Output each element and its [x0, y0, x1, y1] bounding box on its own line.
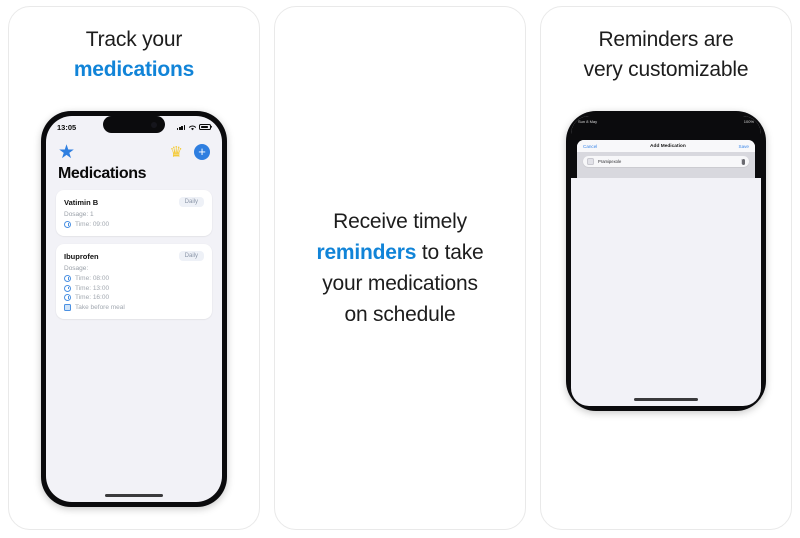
panel-track-medications: Track your medications 13:05 — [8, 6, 260, 530]
add-medication-button[interactable]: + — [194, 144, 210, 160]
status-bar-battery-label: 100% — [744, 119, 754, 124]
predictive-text-bar[interactable]: Pramipexole — [583, 156, 749, 167]
save-button[interactable]: Save — [739, 144, 749, 149]
wifi-icon — [188, 124, 197, 131]
microphone-icon[interactable] — [742, 159, 745, 165]
sheet-title: Add Medication — [650, 144, 686, 149]
headline-line-1: Track your — [19, 25, 249, 55]
phone-mockup-one: 13:05 ★ ♛ — [41, 111, 227, 507]
copy-line-3: your medications — [322, 272, 478, 295]
medication-time-row: Time: 16:00 — [64, 294, 204, 301]
clock-icon — [64, 285, 71, 292]
status-bar: Sun 8 May 100% — [571, 116, 761, 126]
phone-mockup-three: Sun 8 May 100% Cancel Add Medication Sav… — [566, 111, 766, 411]
medication-time-row: Time: 09:00 — [64, 221, 204, 228]
note-icon — [64, 304, 71, 311]
panel-two-copy-wrap: Receive timely reminders to take your me… — [275, 7, 525, 529]
panel-two-copy: Receive timely reminders to take your me… — [316, 206, 483, 330]
medication-time-row: Time: 08:00 — [64, 275, 204, 282]
panel-customizable-reminders: Reminders are very customizable Sun 8 Ma… — [540, 6, 792, 530]
medication-time-row: Time: 13:00 — [64, 285, 204, 292]
frequency-badge: Daily — [179, 197, 204, 207]
phone-screen-medications: 13:05 ★ ♛ — [46, 116, 222, 502]
cancel-button[interactable]: Cancel — [583, 144, 597, 149]
headline-line-1: Reminders are — [551, 25, 781, 55]
medication-time-label: Time: 13:00 — [75, 285, 109, 292]
emoji-icon[interactable] — [587, 158, 594, 165]
status-bar-time-carrier: Sun 8 May — [578, 119, 597, 124]
crown-icon[interactable]: ♛ — [170, 145, 183, 160]
camera-icon — [151, 122, 157, 128]
copy-line-4: on schedule — [344, 303, 455, 326]
medication-name: Ibuprofen — [64, 252, 99, 261]
medication-name: Vatimin B — [64, 198, 98, 207]
clock-icon — [64, 275, 71, 282]
add-medication-sheet: Cancel Add Medication Save MEDICATION NA… — [577, 140, 755, 178]
medication-card-header: Ibuprofen Daily — [64, 251, 204, 261]
copy-line-1: Receive timely — [333, 210, 467, 233]
copy-accent: reminders — [316, 241, 416, 264]
home-indicator — [634, 398, 698, 401]
headline-accent: medications — [19, 55, 249, 85]
phone-screen-add-medication: Sun 8 May 100% Cancel Add Medication Sav… — [571, 116, 761, 406]
medication-dosage: Dosage: — [64, 265, 204, 272]
page-title: Medications — [46, 164, 222, 190]
copy-line-2-rest: to take — [416, 241, 483, 264]
headline-line-2: very customizable — [551, 55, 781, 85]
on-screen-keyboard[interactable]: Pramipexole — [577, 152, 755, 178]
panel-three-headline: Reminders are very customizable — [541, 7, 791, 86]
phone-frame: 13:05 ★ ♛ — [41, 111, 227, 507]
cellular-signal-icon — [177, 124, 185, 130]
clock-icon — [64, 221, 71, 228]
phone-frame: Sun 8 May 100% Cancel Add Medication Sav… — [566, 111, 766, 411]
status-bar-indicators: 100% — [744, 119, 754, 124]
medication-note-label: Take before meal — [75, 304, 125, 311]
nav-right-actions: ♛ + — [170, 144, 210, 160]
modal-backdrop: Cancel Add Medication Save MEDICATION NA… — [571, 126, 761, 178]
star-icon[interactable]: ★ — [58, 143, 75, 162]
status-bar-time: 13:05 — [57, 123, 76, 132]
app-nav-bar: ★ ♛ + — [46, 138, 222, 164]
frequency-badge: Daily — [179, 251, 204, 261]
medication-list: Vatimin B Daily Dosage: 1 Time: 09:00 — [46, 190, 222, 319]
status-bar-indicators — [177, 124, 211, 131]
medication-card-header: Vatimin B Daily — [64, 197, 204, 207]
keyboard-suggestion[interactable]: Pramipexole — [598, 159, 742, 164]
medication-card[interactable]: Vatimin B Daily Dosage: 1 Time: 09:00 — [56, 190, 212, 236]
clock-icon — [64, 294, 71, 301]
medication-note-row: Take before meal — [64, 304, 204, 311]
battery-icon — [199, 124, 211, 130]
panel-one-headline: Track your medications — [9, 7, 259, 86]
medication-dosage: Dosage: 1 — [64, 211, 204, 218]
medication-time-label: Time: 08:00 — [75, 275, 109, 282]
home-indicator — [105, 494, 163, 497]
medication-card[interactable]: Ibuprofen Daily Dosage: Time: 08:00 Time… — [56, 244, 212, 319]
medication-time-label: Time: 09:00 — [75, 221, 109, 228]
medication-time-label: Time: 16:00 — [75, 294, 109, 301]
panel-receive-reminders: Receive timely reminders to take your me… — [274, 6, 526, 530]
screenshot-root: Track your medications 13:05 — [0, 0, 800, 538]
notch — [103, 116, 165, 133]
